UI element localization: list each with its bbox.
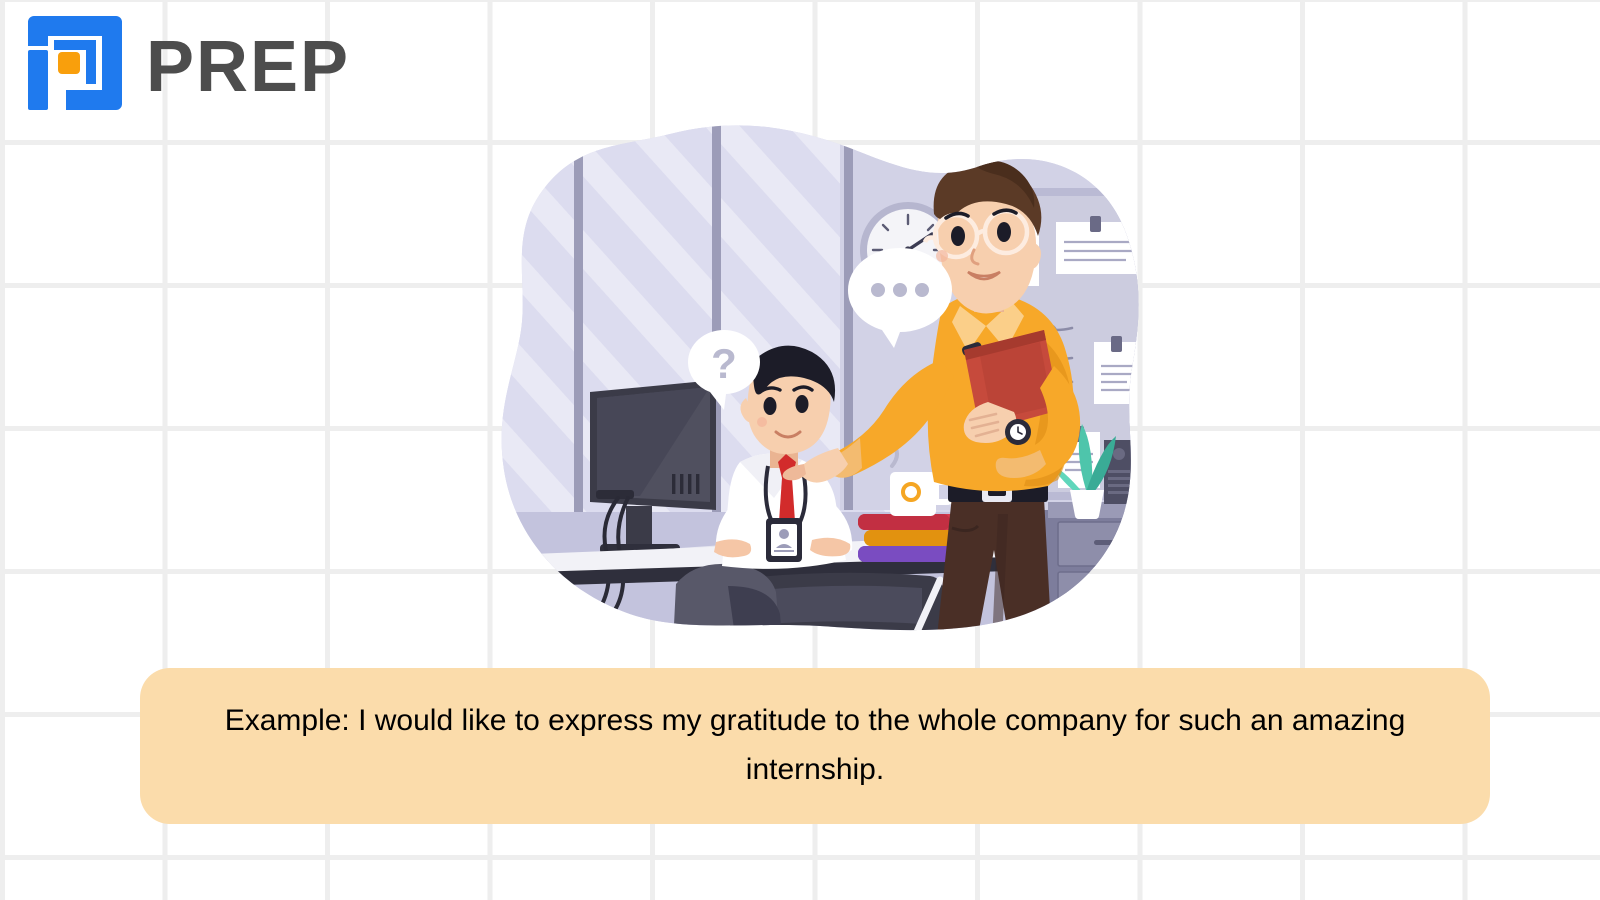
filing-cabinet bbox=[1040, 502, 1160, 640]
brand-wordmark: PREP bbox=[146, 31, 350, 103]
example-caption-box: Example: I would like to express my grat… bbox=[140, 668, 1490, 824]
pinned-note bbox=[1056, 216, 1152, 274]
pinned-note bbox=[1094, 336, 1140, 404]
office-illustration: ? bbox=[440, 110, 1160, 640]
office-scene-svg: ? bbox=[440, 110, 1160, 640]
prep-square-spiral-logo-icon bbox=[18, 14, 132, 120]
page-root: PREP bbox=[0, 0, 1600, 900]
scene-blob-background: ? bbox=[440, 110, 1160, 640]
brand-logo[interactable]: PREP bbox=[18, 14, 350, 120]
window-mullion bbox=[574, 110, 583, 520]
svg-text:?: ? bbox=[711, 340, 737, 387]
example-caption-text: Example: I would like to express my grat… bbox=[186, 697, 1444, 794]
